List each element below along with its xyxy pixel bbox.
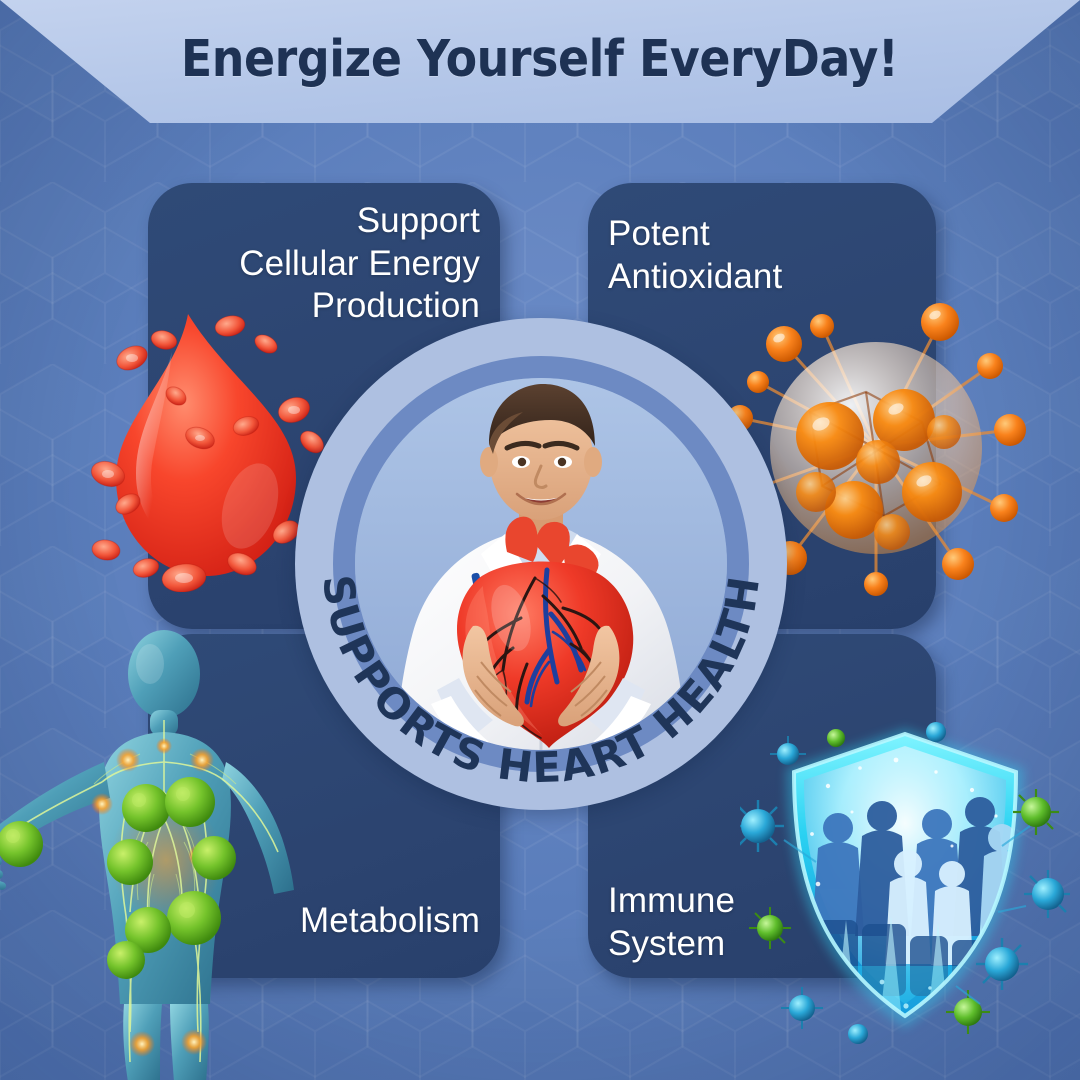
card-label-metabolism: Metabolism (168, 900, 480, 943)
card-label-immune-system: Immune System (608, 880, 918, 965)
page-title: Energize Yourself EveryDay! (181, 30, 899, 89)
card-label-potent-antioxidant: Potent Antioxidant (608, 213, 918, 298)
doctor-heart-photo (355, 378, 727, 750)
header-banner: Energize Yourself EveryDay! (0, 0, 1080, 124)
infographic-canvas: Energize Yourself EveryDay! (0, 0, 1080, 1080)
card-label-cellular-energy: Support Cellular Energy Production (168, 200, 480, 328)
